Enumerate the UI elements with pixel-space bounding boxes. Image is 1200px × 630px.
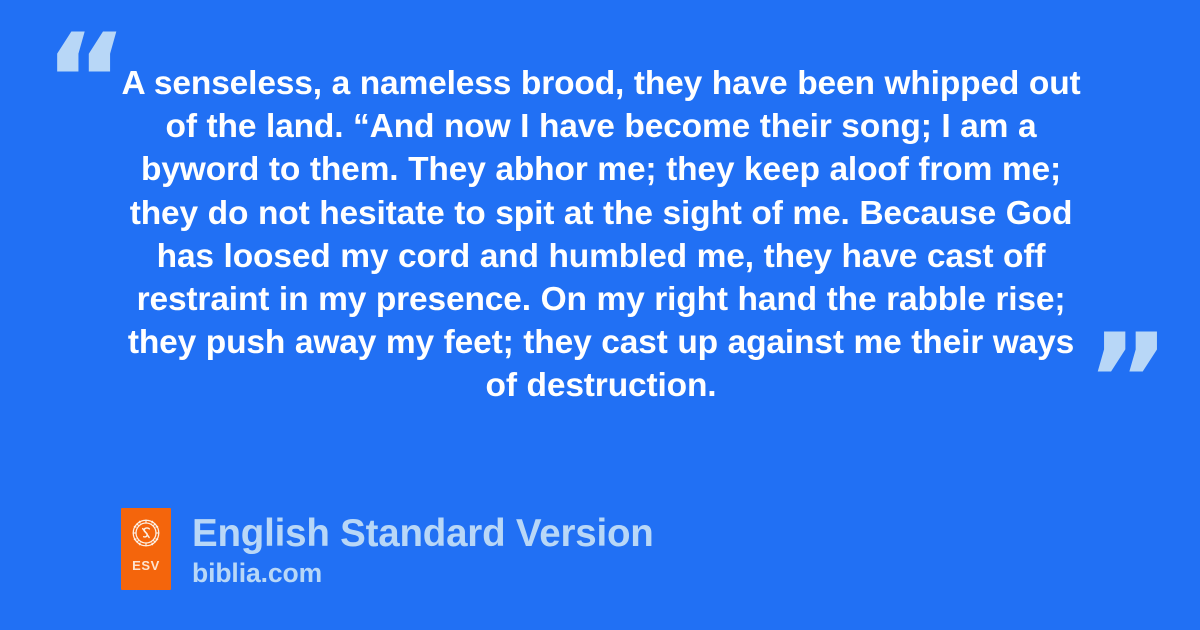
- open-quote-icon: “: [44, 18, 126, 146]
- esv-logo-label: ESV: [132, 559, 160, 572]
- esv-seal-icon: [131, 518, 161, 548]
- branding: ESV English Standard Version biblia.com: [121, 508, 654, 590]
- bible-verse-card: “ A senseless, a nameless brood, they ha…: [0, 0, 1200, 630]
- bible-version-title: English Standard Version: [192, 511, 654, 557]
- brand-text-block: English Standard Version biblia.com: [192, 508, 654, 589]
- close-quote-icon: ”: [1086, 318, 1168, 446]
- site-url: biblia.com: [192, 558, 654, 589]
- quote-text: A senseless, a nameless brood, they have…: [118, 62, 1084, 408]
- esv-logo-badge: ESV: [121, 508, 171, 590]
